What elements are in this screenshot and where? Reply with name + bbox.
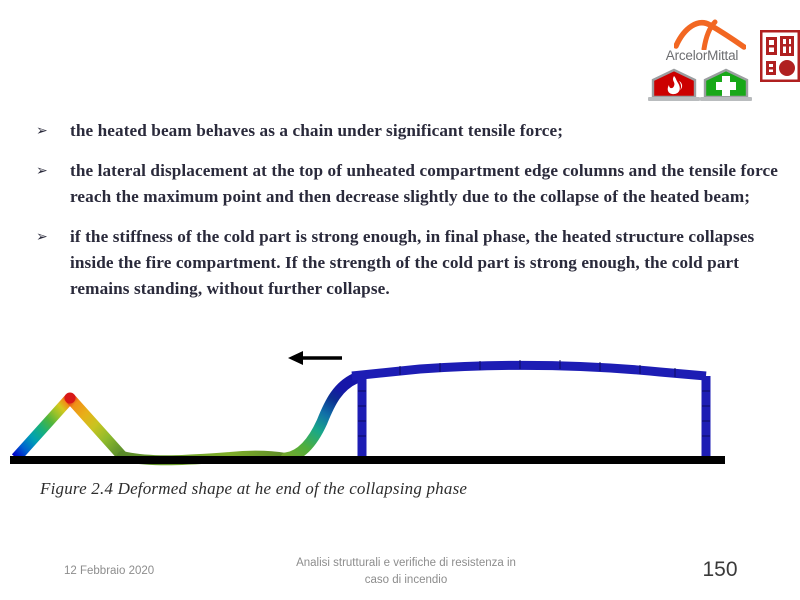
pictogram-row xyxy=(650,68,756,102)
collapsed-member-left-rise xyxy=(16,398,70,458)
arcelormittal-swoosh-icon xyxy=(674,16,746,50)
footer-date: 12 Febbraio 2020 xyxy=(64,565,154,577)
page-number: 150 xyxy=(690,558,750,582)
cold-frame-roof-beam xyxy=(352,365,706,376)
bullet-arrow-icon: ➢ xyxy=(36,224,70,248)
collapsed-member-right-rise xyxy=(286,378,356,458)
arcelormittal-wordmark: ArcelorMittal xyxy=(648,48,756,63)
arcelormittal-logo: ArcelorMittal xyxy=(648,12,756,100)
bullet-text-2: the lateral displacement at the top of u… xyxy=(70,158,780,210)
ground-line xyxy=(10,456,725,464)
footer-subject-line-1: Analisi strutturali e verifiche di resis… xyxy=(250,555,562,572)
bullet-arrow-icon: ➢ xyxy=(36,118,70,142)
logo-block: ArcelorMittal xyxy=(648,12,800,102)
bullet-item-2: ➢ the lateral displacement at the top of… xyxy=(36,158,780,210)
bullet-text-3: if the stiffness of the cold part is str… xyxy=(70,224,780,302)
bullet-item-3: ➢ if the stiffness of the cold part is s… xyxy=(36,224,780,302)
bullet-text-1: the heated beam behaves as a chain under… xyxy=(70,118,780,144)
bullet-list: ➢ the heated beam behaves as a chain und… xyxy=(36,118,780,316)
bullet-arrow-icon: ➢ xyxy=(36,158,70,182)
footer-subject: Analisi strutturali e verifiche di resis… xyxy=(250,555,562,589)
presentation-slide: ArcelorMittal xyxy=(0,0,800,600)
collapsed-member-left-fall xyxy=(70,398,122,456)
first-aid-pictogram-icon xyxy=(702,68,750,98)
fire-pictogram-icon xyxy=(650,68,698,98)
deformed-shape-figure xyxy=(0,336,800,476)
chinese-seal-icon xyxy=(760,30,800,82)
footer-subject-line-2: caso di incendio xyxy=(250,572,562,589)
displacement-arrow-icon xyxy=(288,351,342,365)
figure-caption: Figure 2.4 Deformed shape at he end of t… xyxy=(40,479,467,499)
bullet-item-1: ➢ the heated beam behaves as a chain und… xyxy=(36,118,780,144)
